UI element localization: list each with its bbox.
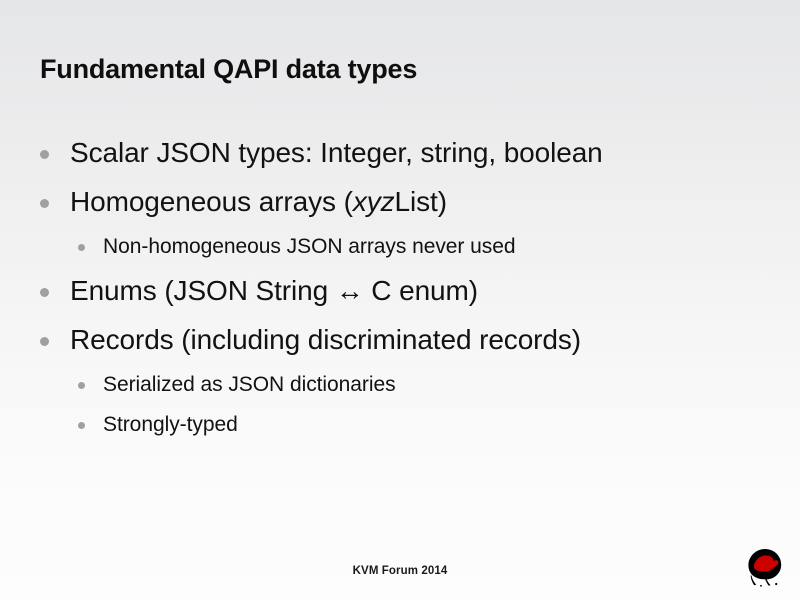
bullet-marker-icon bbox=[40, 272, 70, 310]
presentation-slide: Fundamental QAPI data types Scalar JSON … bbox=[0, 0, 800, 600]
slide-title: Fundamental QAPI data types bbox=[40, 53, 740, 85]
bullet-marker-icon bbox=[78, 232, 103, 262]
bullet-marker-icon bbox=[78, 370, 103, 400]
bullet-item-scalar-json-types: Scalar JSON types: Integer, string, bool… bbox=[40, 134, 756, 183]
bullet-text: Strongly-typed bbox=[103, 410, 756, 440]
bullet-item-strongly-typed: Strongly-typed bbox=[40, 410, 756, 450]
bullet-item-records: Records (including discriminated records… bbox=[40, 321, 756, 370]
bullet-marker-icon bbox=[40, 183, 70, 221]
bullet-marker-icon bbox=[78, 410, 103, 440]
bullet-text: Records (including discriminated records… bbox=[70, 321, 756, 359]
bullet-marker-icon bbox=[40, 321, 70, 359]
bullet-text: Serialized as JSON dictionaries bbox=[103, 370, 756, 400]
bullet-text: Enums (JSON String ↔ C enum) bbox=[70, 272, 756, 310]
bullet-text-prefix: Homogeneous arrays ( bbox=[70, 186, 353, 217]
bullet-item-enums: Enums (JSON String ↔ C enum) bbox=[40, 272, 756, 321]
bullet-text-suffix: List) bbox=[395, 186, 447, 217]
bullet-text-italic-xyz: xyz bbox=[353, 186, 395, 217]
slide-body-bullet-list: Scalar JSON types: Integer, string, bool… bbox=[40, 134, 756, 450]
bullet-text: Scalar JSON types: Integer, string, bool… bbox=[70, 134, 756, 172]
red-hat-shadowman-logo bbox=[742, 546, 788, 590]
bullet-text: Non-homogeneous JSON arrays never used bbox=[103, 232, 756, 262]
bullet-marker-icon bbox=[40, 134, 70, 172]
slide-footer-text: KVM Forum 2014 bbox=[0, 565, 800, 577]
bullet-text: Homogeneous arrays (xyzList) bbox=[70, 183, 756, 221]
bullet-item-non-homogeneous-arrays: Non-homogeneous JSON arrays never used bbox=[40, 232, 756, 272]
bullet-item-homogeneous-arrays: Homogeneous arrays (xyzList) bbox=[40, 183, 756, 232]
bullet-item-serialized-as-json-dictionaries: Serialized as JSON dictionaries bbox=[40, 370, 756, 410]
